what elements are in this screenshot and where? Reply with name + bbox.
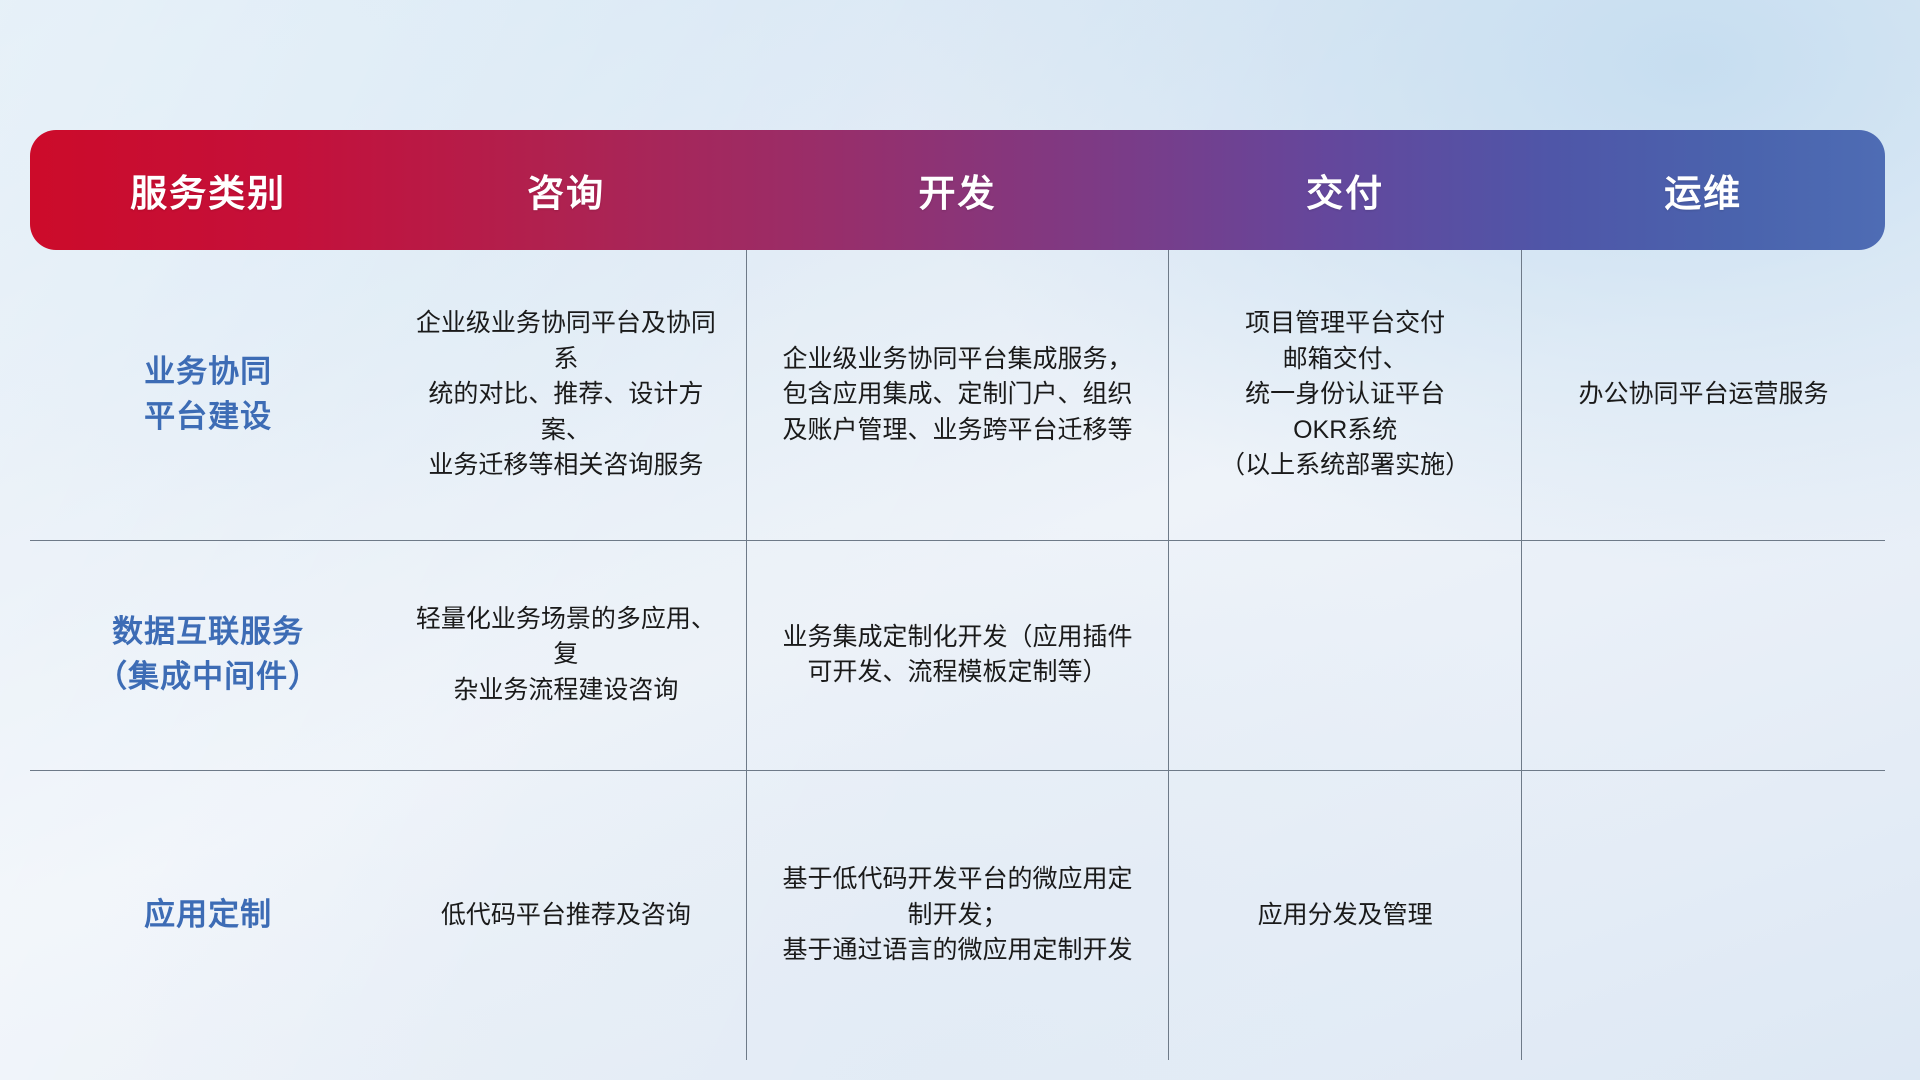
column-header-delivery[interactable]: 交付 <box>1169 130 1521 250</box>
column-header-label: 咨询 <box>527 163 605 217</box>
table-header-row: 服务类别 咨询 开发 交付 运维 <box>30 130 1885 250</box>
cell-text: 应用分发及管理 <box>1187 898 1502 934</box>
cell-text: 企业级业务协同平台集成服务， 包含应用集成、定制门户、组织 及账户管理、业务跨平… <box>765 342 1151 449</box>
cell-text: 低代码平台推荐及咨询 <box>404 898 727 934</box>
cell-text: 企业级业务协同平台及协同系 统的对比、推荐、设计方案、 业务迁移等相关咨询服务 <box>404 306 727 484</box>
cell-operations-application-customization <box>1521 770 1885 1060</box>
table-row: 应用定制 低代码平台推荐及咨询 基于低代码开发平台的微应用定 制开发； 基于通过… <box>30 770 1885 1060</box>
column-header-label: 交付 <box>1306 163 1384 217</box>
row-label-business-collaboration-platform: 业务协同 平台建设 <box>30 250 386 540</box>
cell-development-application-customization: 基于低代码开发平台的微应用定 制开发； 基于通过语言的微应用定制开发 <box>746 770 1169 1060</box>
cell-development-data-interconnection-service: 业务集成定制化开发（应用插件 可开发、流程模板定制等） <box>746 540 1169 770</box>
cell-text: 轻量化业务场景的多应用、复 杂业务流程建设咨询 <box>404 602 727 709</box>
cell-consulting-application-customization: 低代码平台推荐及咨询 <box>386 770 746 1060</box>
table-header: 服务类别 咨询 开发 交付 运维 <box>30 130 1885 250</box>
column-header-label: 服务类别 <box>130 163 286 217</box>
cell-development-business-collaboration-platform: 企业级业务协同平台集成服务， 包含应用集成、定制门户、组织 及账户管理、业务跨平… <box>746 250 1169 540</box>
column-header-label: 开发 <box>918 163 996 217</box>
cell-operations-data-interconnection-service <box>1521 540 1885 770</box>
row-label-text: 应用定制 <box>48 893 368 938</box>
cell-consulting-data-interconnection-service: 轻量化业务场景的多应用、复 杂业务流程建设咨询 <box>386 540 746 770</box>
row-label-text: 业务协同 平台建设 <box>48 350 368 440</box>
cell-text: 基于低代码开发平台的微应用定 制开发； 基于通过语言的微应用定制开发 <box>765 862 1151 969</box>
cell-delivery-data-interconnection-service <box>1169 540 1521 770</box>
column-header-service-category[interactable]: 服务类别 <box>30 130 386 250</box>
cell-delivery-application-customization: 应用分发及管理 <box>1169 770 1521 1060</box>
row-label-data-interconnection-service: 数据互联服务 （集成中间件） <box>30 540 386 770</box>
table-row: 业务协同 平台建设 企业级业务协同平台及协同系 统的对比、推荐、设计方案、 业务… <box>30 250 1885 540</box>
column-header-label: 运维 <box>1664 163 1742 217</box>
cell-text: 办公协同平台运营服务 <box>1540 377 1867 413</box>
cell-delivery-business-collaboration-platform: 项目管理平台交付 邮箱交付、 统一身份认证平台 OKR系统 （以上系统部署实施） <box>1169 250 1521 540</box>
table-row: 数据互联服务 （集成中间件） 轻量化业务场景的多应用、复 杂业务流程建设咨询 业… <box>30 540 1885 770</box>
table-body: 业务协同 平台建设 企业级业务协同平台及协同系 统的对比、推荐、设计方案、 业务… <box>30 250 1885 1060</box>
cell-operations-business-collaboration-platform: 办公协同平台运营服务 <box>1521 250 1885 540</box>
service-matrix-table-container: 服务类别 咨询 开发 交付 运维 <box>30 130 1885 960</box>
row-label-text: 数据互联服务 （集成中间件） <box>48 610 368 700</box>
page-canvas: 服务类别 咨询 开发 交付 运维 <box>0 0 1920 1080</box>
service-matrix-table: 服务类别 咨询 开发 交付 运维 <box>30 130 1885 1060</box>
column-header-development[interactable]: 开发 <box>746 130 1169 250</box>
column-header-operations[interactable]: 运维 <box>1521 130 1885 250</box>
cell-text: 项目管理平台交付 邮箱交付、 统一身份认证平台 OKR系统 （以上系统部署实施） <box>1187 306 1502 484</box>
cell-text: 业务集成定制化开发（应用插件 可开发、流程模板定制等） <box>765 620 1151 691</box>
row-label-application-customization: 应用定制 <box>30 770 386 1060</box>
cell-consulting-business-collaboration-platform: 企业级业务协同平台及协同系 统的对比、推荐、设计方案、 业务迁移等相关咨询服务 <box>386 250 746 540</box>
column-header-consulting[interactable]: 咨询 <box>386 130 746 250</box>
